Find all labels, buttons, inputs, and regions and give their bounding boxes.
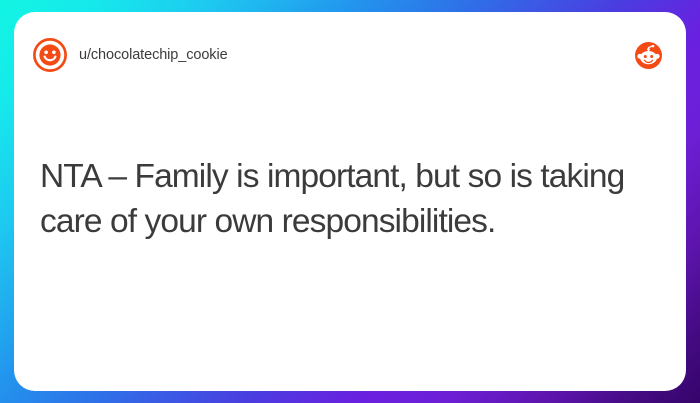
card-header: u/chocolatechip_cookie bbox=[14, 12, 686, 98]
comment-body-text: NTA – Family is important, but so is tak… bbox=[40, 154, 626, 244]
reddit-comment-card: u/chocolatechip_cookie bbox=[14, 12, 686, 391]
reddit-snoo-icon bbox=[635, 42, 662, 69]
author-username[interactable]: u/chocolatechip_cookie bbox=[79, 47, 228, 63]
screenshot-root: u/chocolatechip_cookie bbox=[0, 0, 700, 403]
smiley-face-icon bbox=[33, 38, 67, 72]
